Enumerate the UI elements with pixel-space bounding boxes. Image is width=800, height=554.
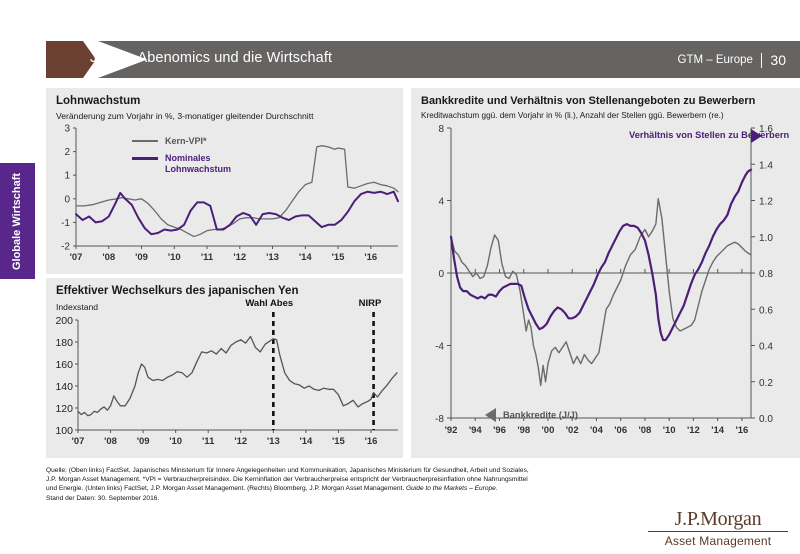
chart-canvas-lohnwachstum: 3210-1-2'07'08'09'10'11'12'13'14'15'16 [46,88,403,274]
chart-legend-lohnwachstum: Kern-VPI* Nominales Lohnwachstum [132,136,255,181]
svg-text:'12: '12 [687,425,700,436]
header-chevron-icon [46,41,96,78]
svg-text:'08: '08 [102,252,115,263]
svg-text:0.4: 0.4 [759,342,773,353]
svg-text:-2: -2 [61,242,70,253]
slide-page: Japan: Abenomics und die Wirtschaft GTM … [0,0,800,554]
legend-label-verhaeltnis-stellen: Verhältnis von Stellen zu Bewerbern [629,130,744,142]
svg-text:'16: '16 [365,436,378,447]
chart-panel-bankkredite: Bankkredite und Verhältnis von Stellenan… [411,88,800,458]
svg-text:'11: '11 [201,252,214,263]
annotation-wahl-abes: Wahl Abes [245,298,293,309]
header-publication-label: GTM – Europe [678,54,753,66]
legend-item-kern-vpi: Kern-VPI* [132,136,255,147]
svg-text:1: 1 [64,171,70,182]
footer-line-3-a: und Energie. (Unten links) FactSet, J.P.… [46,485,406,492]
triangle-left-icon [485,408,496,422]
svg-text:100: 100 [55,425,73,437]
svg-text:0.0: 0.0 [759,414,773,425]
svg-text:0.6: 0.6 [759,305,773,316]
svg-text:'06: '06 [614,425,627,436]
chart-panel-lohnwachstum: Lohnwachstum Veränderung zum Vorjahr in … [46,88,403,274]
legend-item-bankkredite: Bankkredite (J/J) [485,408,578,422]
footer-line-4: Stand der Daten: 30. September 2016. [46,494,606,503]
svg-text:0: 0 [64,194,70,205]
header-divider [761,53,763,68]
svg-text:'16: '16 [735,425,748,436]
svg-text:'96: '96 [493,425,506,436]
svg-text:180: 180 [55,337,73,349]
chart-canvas-bankkredite: 840-4-81.61.41.21.00.80.60.40.20.0'92'94… [411,88,800,458]
svg-text:0: 0 [438,269,444,280]
svg-text:'08: '08 [104,436,117,447]
sidebar-tab-inner: Globale Wirtschaft [0,163,35,279]
legend-item-nominales-lohnwachstum: Nominales Lohnwachstum [132,153,255,175]
svg-text:1.0: 1.0 [759,233,773,244]
sidebar-tab-label: Globale Wirtschaft [11,172,24,269]
svg-text:'10: '10 [663,425,676,436]
svg-text:'94: '94 [469,425,483,436]
svg-text:120: 120 [55,403,73,415]
footer-line-3: und Energie. (Unten links) FactSet, J.P.… [46,484,606,493]
svg-text:1.2: 1.2 [759,197,773,208]
svg-text:'09: '09 [137,436,150,447]
svg-text:0.2: 0.2 [759,378,773,389]
legend-label-kern-vpi: Kern-VPI* [165,136,207,147]
svg-text:160: 160 [55,359,73,371]
legend-item-verhaeltnis-stellen: Verhältnis von Stellen zu Bewerbern [629,129,762,143]
svg-text:'07: '07 [72,436,85,447]
svg-text:'13: '13 [266,252,279,263]
svg-text:'04: '04 [590,425,604,436]
svg-text:4: 4 [438,197,444,208]
legend-swatch-nominales-lohnwachstum [132,157,158,160]
svg-text:'13: '13 [267,436,280,447]
svg-text:'11: '11 [202,436,215,447]
svg-text:200: 200 [55,315,73,327]
sidebar-tab-globale-wirtschaft[interactable]: Globale Wirtschaft [0,163,35,279]
jpmorgan-logo: J.P.Morgan Asset Management [648,508,788,548]
chart-panel-yen: Effektiver Wechselkurs des japanischen Y… [46,278,403,458]
svg-text:'98: '98 [517,425,530,436]
annotation-nirp: NIRP [359,298,382,309]
svg-text:2: 2 [64,147,70,158]
header-meta: GTM – Europe 30 [678,52,787,68]
svg-text:'00: '00 [542,425,555,436]
svg-text:'07: '07 [70,252,83,263]
svg-text:-1: -1 [61,218,70,229]
footer-line-3-b: . [496,485,498,492]
svg-text:'14: '14 [711,425,725,436]
slide-header: Japan: Abenomics und die Wirtschaft GTM … [46,41,800,78]
svg-text:8: 8 [438,124,444,135]
svg-text:'16: '16 [364,252,377,263]
svg-text:'08: '08 [639,425,652,436]
svg-text:'10: '10 [169,436,182,447]
svg-text:'14: '14 [299,252,313,263]
footer-source-note: Quelle: (Oben links) FactSet, Japanische… [46,466,606,503]
svg-text:0.8: 0.8 [759,269,773,280]
svg-text:'15: '15 [332,252,346,263]
svg-text:'12: '12 [234,436,247,447]
legend-label-nominales-lohnwachstum: Nominales Lohnwachstum [165,153,255,175]
svg-text:'09: '09 [135,252,148,263]
svg-text:3: 3 [64,124,70,135]
svg-text:1.4: 1.4 [759,160,773,171]
footer-guide-title: Guide to the Markets – Europe [406,485,496,492]
legend-swatch-kern-vpi [132,140,158,142]
page-title: Japan: Abenomics und die Wirtschaft [90,50,332,66]
triangle-right-icon [751,129,762,143]
legend-label-bankkredite: Bankkredite (J/J) [503,410,578,420]
svg-text:'15: '15 [332,436,346,447]
logo-tagline: Asset Management [648,534,788,548]
svg-text:'12: '12 [233,252,246,263]
svg-text:'14: '14 [299,436,313,447]
svg-text:'92: '92 [445,425,458,436]
svg-text:'10: '10 [168,252,181,263]
svg-text:-4: -4 [435,342,444,353]
chart-canvas-yen: 200180160140120100'07'08'09'10'11'12'13'… [46,278,403,458]
svg-text:'02: '02 [566,425,579,436]
svg-text:140: 140 [55,381,73,393]
footer-line-1: Quelle: (Oben links) FactSet, Japanische… [46,466,606,475]
logo-wordmark: J.P.Morgan [648,508,788,532]
page-number: 30 [770,52,786,68]
footer-line-2: J.P. Morgan Asset Management. *VPI = Ver… [46,475,606,484]
svg-text:-8: -8 [435,414,444,425]
